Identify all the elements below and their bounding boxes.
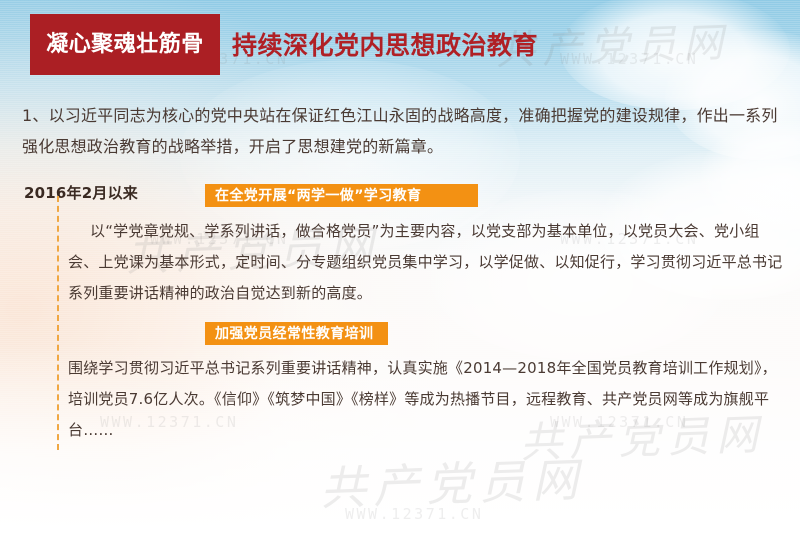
section-heading-banner: 加强党员经常性教育培训	[205, 322, 388, 345]
page-title: 持续深化党内思想政治教育	[232, 30, 538, 63]
title-tag-label: 凝心聚魂壮筋骨	[46, 34, 204, 56]
since-label: 2016年2月以来	[24, 182, 138, 203]
dashed-timeline-rail	[57, 196, 59, 450]
title-tag-box: 凝心聚魂壮筋骨	[30, 14, 220, 75]
section-heading-label: 在全党开展“两学一做”学习教育	[215, 189, 421, 203]
section-heading-label: 加强党员经常性教育培训	[215, 327, 373, 341]
slide-canvas: 共产党员网 共产党员网 共产党员网 共产党员网 WWW.12371.CN WWW…	[0, 0, 800, 533]
section-body-text: 以“学党章党规、学系列讲话，做合格党员”为主要内容，以党支部为基本单位，以党员大…	[68, 216, 784, 309]
header-band: 凝心聚魂壮筋骨 持续深化党内思想政治教育	[0, 0, 800, 92]
section-heading-banner: 在全党开展“两学一做”学习教育	[205, 184, 478, 207]
intro-paragraph: 1、以习近平同志为核心的党中央站在保证红色江山永固的战略高度，准确把握党的建设规…	[22, 100, 784, 162]
section-body-text: 围绕学习贯彻习近平总书记系列重要讲话精神，认真实施《2014—2018年全国党员…	[68, 353, 784, 446]
